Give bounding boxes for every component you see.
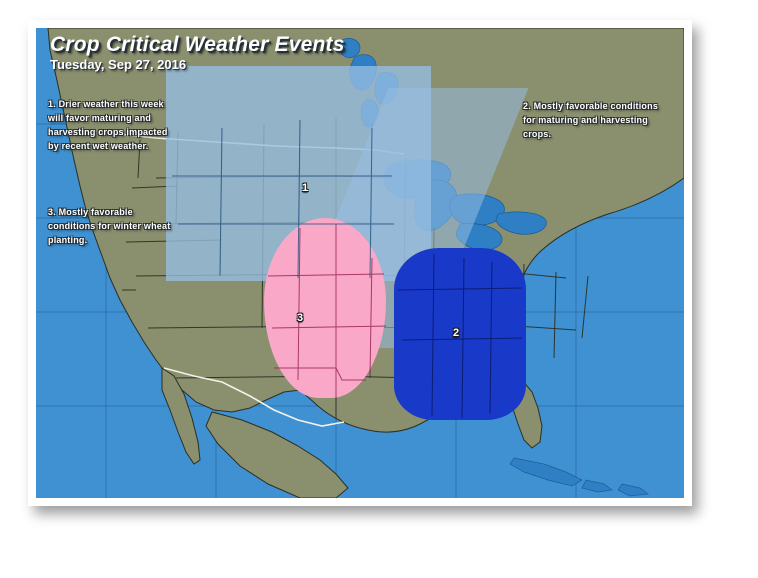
map-title: Crop Critical Weather Events [50,34,345,56]
weather-map-canvas: 1 3 2 Crop Critical Weather Events Tuesd… [36,28,684,498]
map-date-subtitle: Tuesday, Sep 27, 2016 [50,58,345,72]
region-marker-3: 3 [297,313,303,324]
region-marker-1: 1 [302,183,308,194]
annotation-text-1: 1. Drier weather this week will favor ma… [48,98,176,154]
annotation-text-2: 2. Mostly favorable conditions for matur… [523,100,673,142]
map-image-frame: 1 3 2 Crop Critical Weather Events Tuesd… [28,20,692,506]
caribbean-islands [510,458,648,496]
page-root: 1 3 2 Crop Critical Weather Events Tuesd… [0,0,758,578]
region-marker-2: 2 [453,328,459,339]
annotation-text-3: 3. Mostly favorable conditions for winte… [48,206,176,248]
title-block: Crop Critical Weather Events Tuesday, Se… [50,34,345,72]
